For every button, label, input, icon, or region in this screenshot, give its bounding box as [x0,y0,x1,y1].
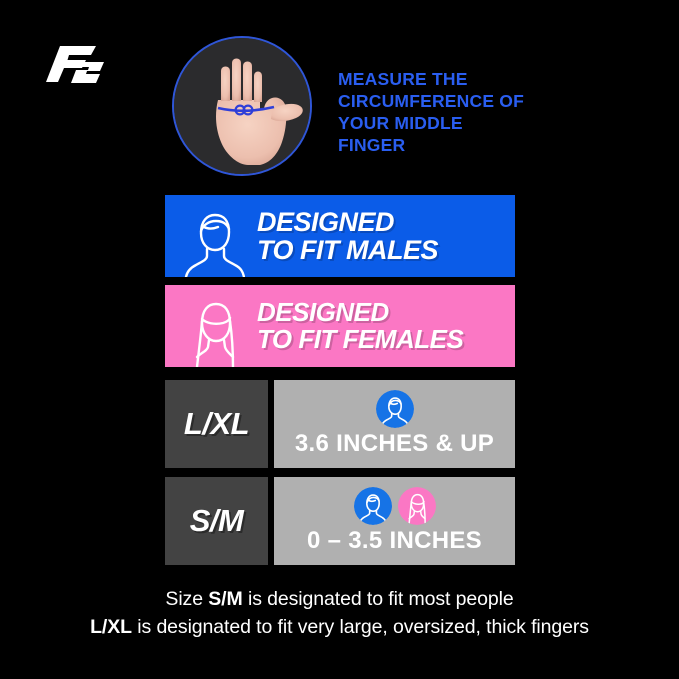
banner-label-males: DESIGNED TO FIT MALES [257,208,438,264]
footer-line1-suffix: is designated to fit most people [243,588,514,610]
size-row-sm: S/M [165,477,515,565]
size-avatars-sm [354,486,436,526]
male-avatar-circle-icon [354,487,392,525]
male-avatar-circle-icon [376,390,414,428]
male-avatar-outline-icon [177,195,251,277]
footer-line2-suffix: is designated to fit very large, oversiz… [132,616,589,638]
size-range-lxl: 3.6 INCHES & UP [295,430,494,458]
banner-designed-to-fit-males: DESIGNED TO FIT MALES [165,195,515,277]
size-chart-infographic: MEASURE THE CIRCUMFERENCE OF YOUR MIDDLE… [0,0,679,679]
size-tag-label-sm: S/M [190,503,244,539]
footer-line1-prefix: Size [165,588,208,610]
size-avatars-lxl [376,389,414,429]
footer-line2-bold: L/XL [90,616,132,638]
hand-palm-measuring-tape-photo [174,38,312,176]
female-avatar-circle-icon [398,487,436,525]
size-tag-sm: S/M [165,477,268,565]
banner-designed-to-fit-females: DESIGNED TO FIT FEMALES [165,285,515,367]
size-tag-label-lxl: L/XL [184,406,249,442]
measure-instruction-text: MEASURE THE CIRCUMFERENCE OF YOUR MIDDLE… [338,68,528,156]
banner-label-females: DESIGNED TO FIT FEMALES [257,299,463,353]
size-row-lxl: L/XL 3.6 INCHES & UP [165,380,515,468]
female-avatar-outline-icon [177,285,251,367]
footer-line-1: Size S/M is designated to fit most peopl… [0,586,679,614]
footer-line1-bold: S/M [208,588,242,610]
size-range-sm: 0 – 3.5 INCHES [307,527,482,555]
size-value-sm: 0 – 3.5 INCHES [274,477,515,565]
f2-logo [38,40,110,88]
footer-line-2: L/XL is designated to fit very large, ov… [0,614,679,642]
hand-measure-illustration [172,36,312,176]
size-tag-lxl: L/XL [165,380,268,468]
size-value-lxl: 3.6 INCHES & UP [274,380,515,468]
footer-note: Size S/M is designated to fit most peopl… [0,586,679,641]
